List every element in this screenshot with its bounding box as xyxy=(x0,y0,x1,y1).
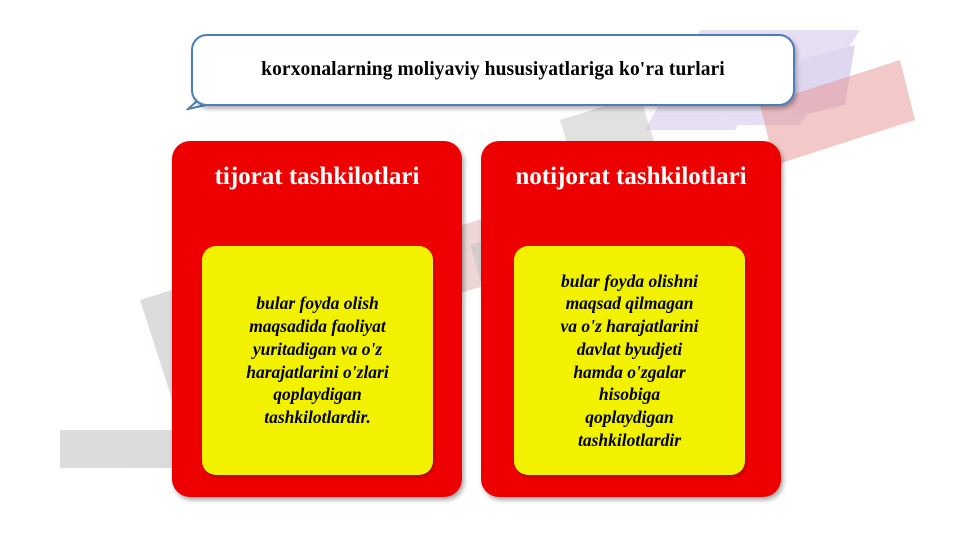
page-title: korxonalarning moliyaviy hususiyatlariga… xyxy=(261,59,725,81)
card-tijorat-heading: tijorat tashkilotlari xyxy=(172,161,462,193)
card-tijorat-body-panel: bular foyda olish maqsadida faoliyat yur… xyxy=(202,246,433,475)
card-tijorat: tijorat tashkilotlari bular foyda olish … xyxy=(172,141,462,497)
card-notijorat: notijorat tashkilotlari bular foyda olis… xyxy=(481,141,781,497)
card-notijorat-body-text: bular foyda olishni maqsad qilmagan va o… xyxy=(554,270,704,452)
diagram-title-box: korxonalarning moliyaviy hususiyatlariga… xyxy=(191,34,795,106)
card-notijorat-body-panel: bular foyda olishni maqsad qilmagan va o… xyxy=(514,246,745,475)
card-tijorat-body-text: bular foyda olish maqsadida faoliyat yur… xyxy=(240,292,394,429)
slide-canvas: korxonalarning moliyaviy hususiyatlariga… xyxy=(0,0,961,540)
card-notijorat-heading: notijorat tashkilotlari xyxy=(481,161,781,193)
